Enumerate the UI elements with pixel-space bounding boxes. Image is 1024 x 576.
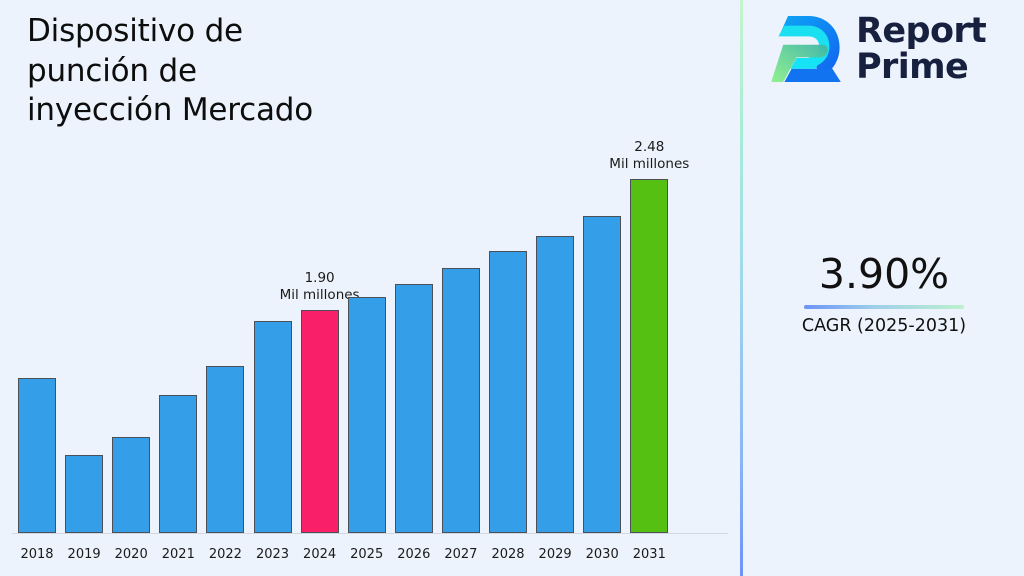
bar-2020 [112,437,150,533]
bar-2023 [254,321,292,533]
bar-rect-2023 [254,321,292,533]
x-tick-2020: 2020 [112,547,150,562]
x-tick-2023: 2023 [254,547,292,562]
bar-rect-2030 [583,216,621,533]
bar-value-2024: 1.90 [280,270,360,287]
x-tick-2027: 2027 [442,547,480,562]
bar-rect-2025 [348,297,386,533]
x-tick-2025: 2025 [348,547,386,562]
x-tick-2029: 2029 [536,547,574,562]
bar-rect-2021 [159,395,197,533]
x-tick-2024: 2024 [301,547,339,562]
bar-rect-2020 [112,437,150,533]
bar-rect-2031 [630,179,668,533]
report-prime-logo-icon [770,10,842,88]
bar-2027 [442,268,480,533]
bar-2019 [65,455,103,533]
chart-panel: Dispositivo de punción de inyección Merc… [0,0,740,576]
bar-2021 [159,395,197,533]
bar-value-label-2031: 2.48Mil millones [609,139,689,173]
brand-wordmark: Report Prime [856,13,986,85]
bar-rect-2029 [536,236,574,533]
brand-logo: Report Prime [770,10,986,88]
bar-rect-2024 [301,310,339,533]
x-tick-2028: 2028 [489,547,527,562]
cagr-block: 3.90% CAGR (2025-2031) [744,252,1024,336]
x-tick-2021: 2021 [159,547,197,562]
chart-infographic: Dispositivo de punción de inyección Merc… [0,0,1024,576]
bar-2025 [348,297,386,533]
x-tick-2030: 2030 [583,547,621,562]
bar-2024: 1.90Mil millones [301,310,339,533]
x-axis-baseline [12,533,728,534]
bar-rect-2028 [489,251,527,533]
x-tick-2022: 2022 [206,547,244,562]
bar-unit-2031: Mil millones [609,156,689,173]
panel-divider [740,0,743,576]
cagr-value: 3.90% [744,252,1024,297]
cagr-divider-rule [804,305,964,309]
bar-2018 [18,378,56,533]
bar-rect-2022 [206,366,244,533]
x-tick-2018: 2018 [18,547,56,562]
x-tick-2031: 2031 [630,547,668,562]
bar-2031: 2.48Mil millones [630,179,668,533]
bar-rect-2018 [18,378,56,533]
bar-chart-plot-area: 2018201920202021202220231.90Mil millones… [0,0,740,576]
bar-rect-2026 [395,284,433,533]
bar-2029 [536,236,574,533]
bar-2022 [206,366,244,533]
bar-rect-2027 [442,268,480,533]
x-tick-2019: 2019 [65,547,103,562]
bar-2028 [489,251,527,533]
x-tick-2026: 2026 [395,547,433,562]
bar-rect-2019 [65,455,103,533]
bar-2026 [395,284,433,533]
cagr-caption: CAGR (2025-2031) [744,316,1024,336]
brand-panel: Report Prime 3.90% CAGR (2025-2031) [744,0,1024,576]
bar-2030 [583,216,621,533]
bar-value-2031: 2.48 [609,139,689,156]
